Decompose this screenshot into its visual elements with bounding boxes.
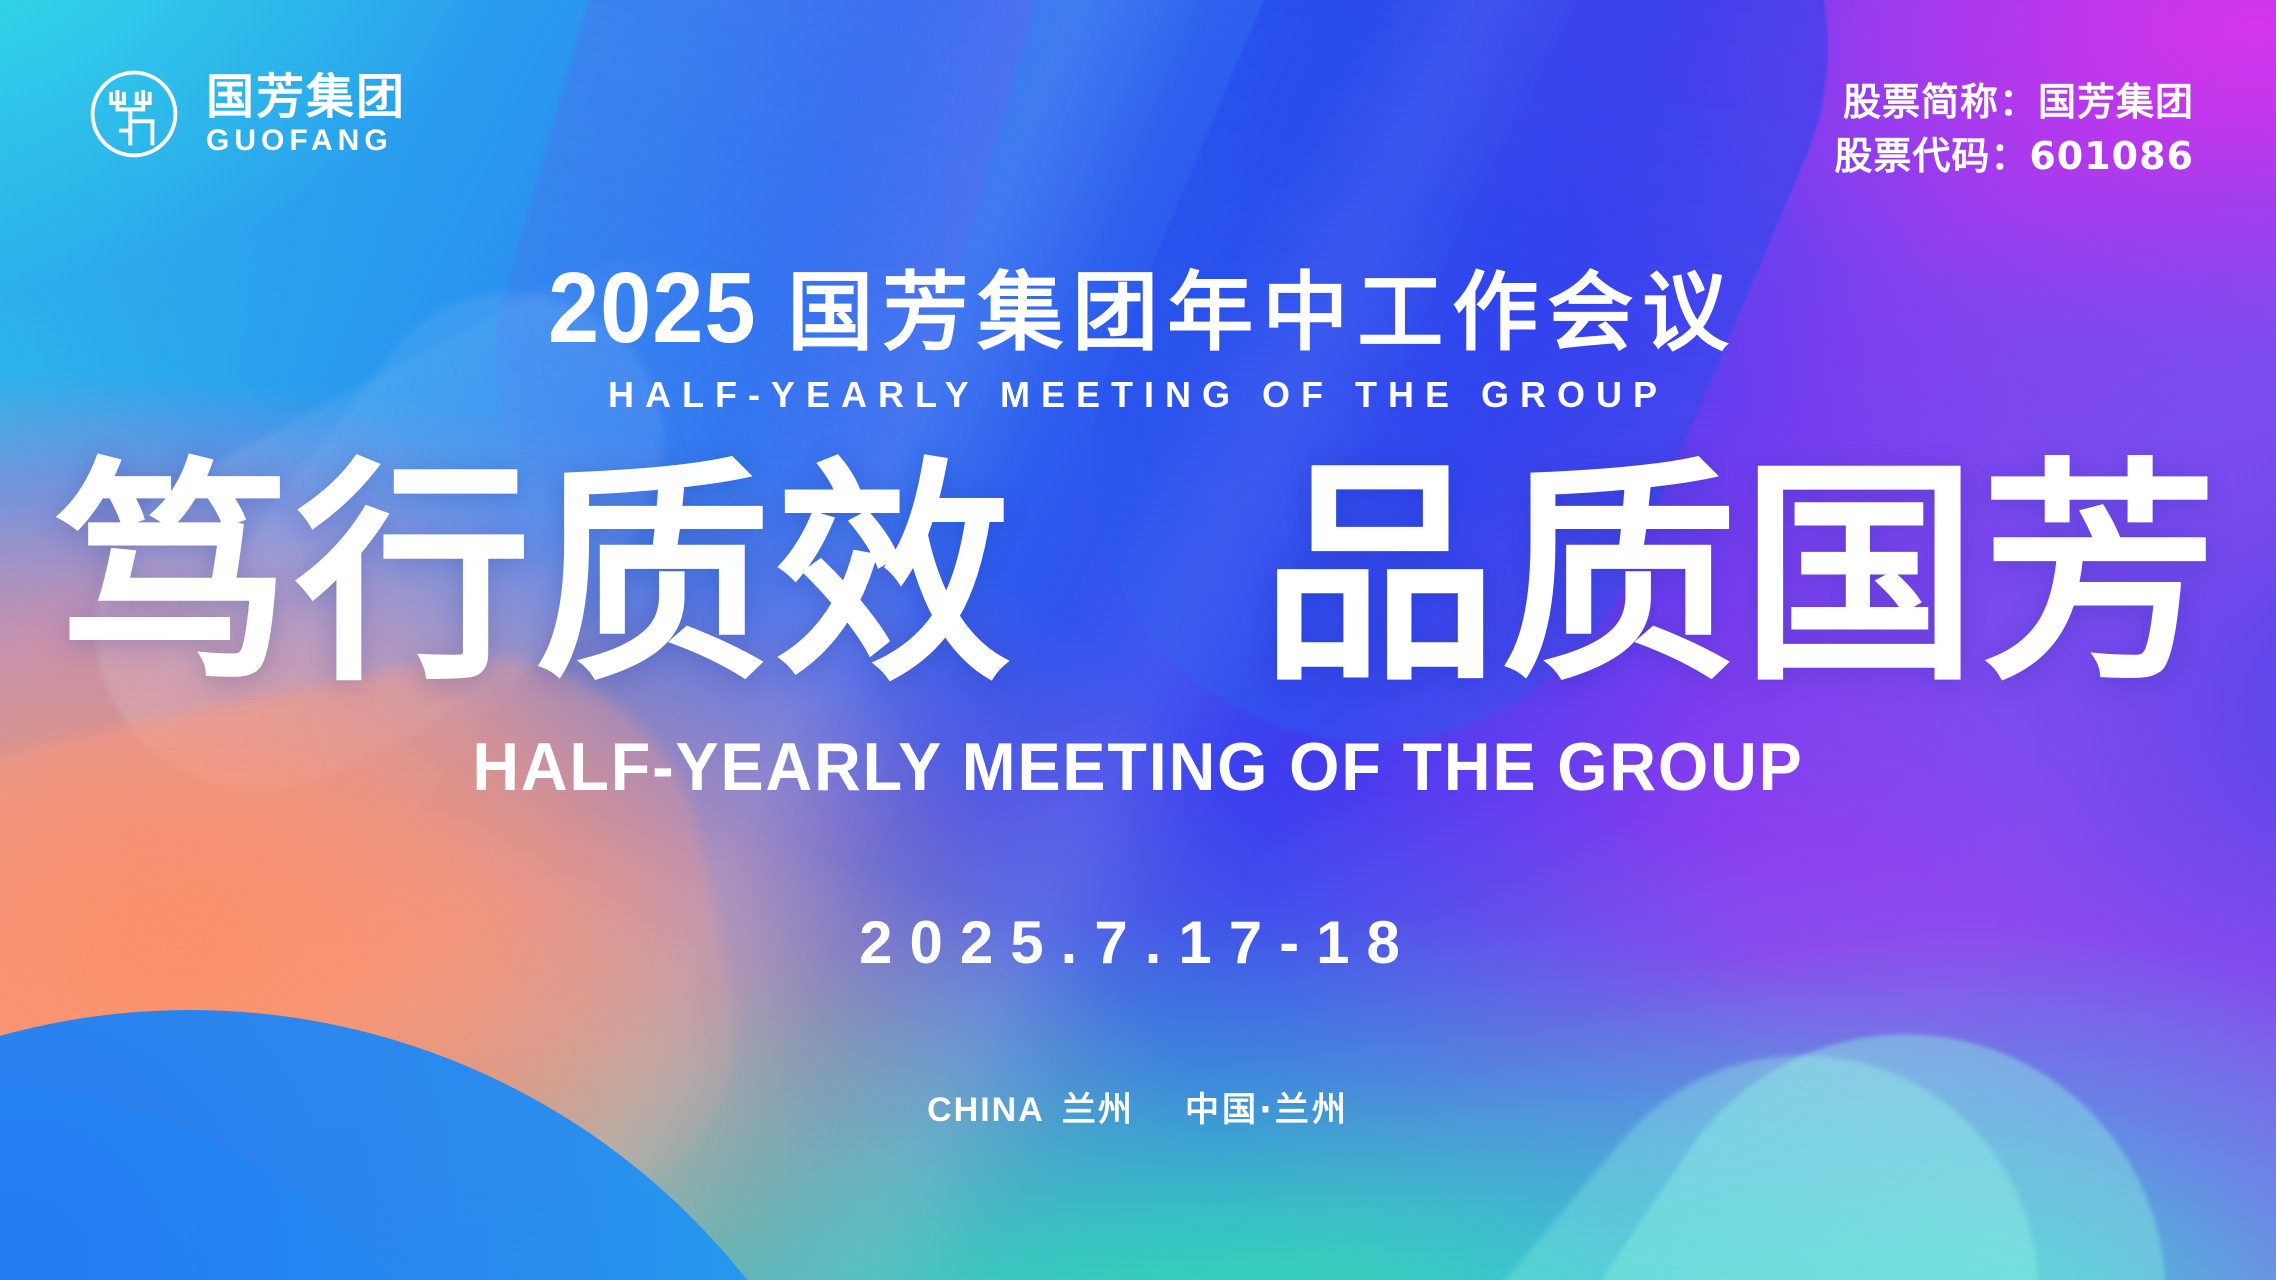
location-city-cn: 兰州 <box>1062 1090 1134 1130</box>
banner-content: 国芳集团 GUOFANG 股票简称：国芳集团 股票代码：601086 2025 … <box>0 0 2276 1280</box>
guofang-deer-circle-icon <box>88 68 180 160</box>
location-country-en: CHINA <box>927 1091 1045 1129</box>
conference-title-en: HALF-YEARLY MEETING OF THE GROUP <box>0 374 2276 416</box>
brand-name-cn: 国芳集团 <box>206 73 406 121</box>
event-location: CHINA 兰州 中国·兰州 <box>0 1082 2276 1131</box>
brand-wordmark: 国芳集团 GUOFANG <box>206 73 406 156</box>
brand-logo: 国芳集团 GUOFANG <box>88 68 406 160</box>
conference-title-block: 2025 国芳集团年中工作会议 HALF-YEARLY MEETING OF T… <box>0 258 2276 416</box>
conference-title-row: 2025 国芳集团年中工作会议 <box>539 258 1737 358</box>
stock-code-line: 股票代码：601086 <box>1834 130 2194 184</box>
conference-banner: 国芳集团 GUOFANG 股票简称：国芳集团 股票代码：601086 2025 … <box>0 0 2276 1280</box>
conference-title-cn: 国芳集团年中工作会议 <box>787 270 1737 356</box>
conference-year: 2025 <box>548 258 756 358</box>
slogan-subtitle-en: HALF-YEARLY MEETING OF THE GROUP <box>57 728 2219 806</box>
slogan-part-2: 品质国芳 <box>1261 438 2221 713</box>
location-full-cn: 中国·兰州 <box>1185 1090 1349 1130</box>
event-date: 2025.7.17-18 <box>0 908 2276 977</box>
brand-name-en: GUOFANG <box>206 126 406 156</box>
slogan-part-1: 笃行质效 <box>55 438 1015 713</box>
main-slogan: 笃行质效 品质国芳 <box>0 458 2276 694</box>
stock-info: 股票简称：国芳集团 股票代码：601086 <box>1834 76 2194 184</box>
stock-name-line: 股票简称：国芳集团 <box>1834 76 2194 130</box>
